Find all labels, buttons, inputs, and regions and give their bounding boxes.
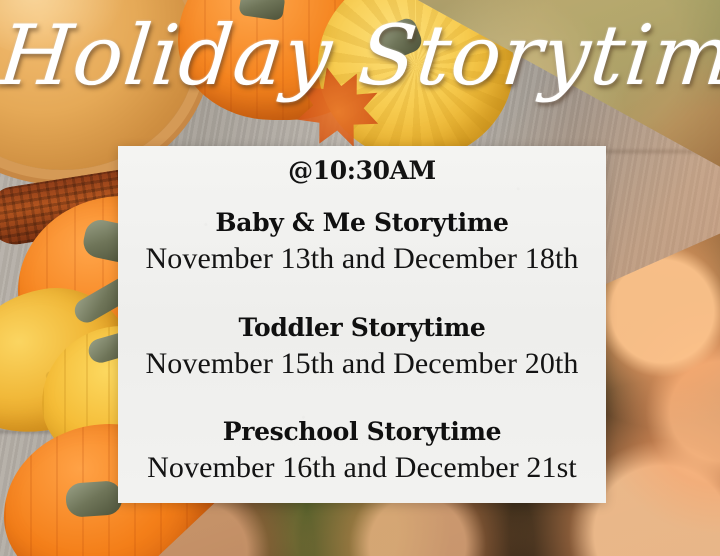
session-dates: November 13th and December 18th: [132, 240, 592, 278]
session-baby-and-me: Baby & Me Storytime November 13th and De…: [132, 208, 592, 278]
pumpkin-stem: [65, 480, 123, 518]
session-name: Baby & Me Storytime: [132, 208, 592, 238]
holiday-storytime-poster: Holiday Storytime @10:30AM Baby & Me Sto…: [0, 0, 720, 556]
storytime-time: @10:30AM: [288, 156, 436, 185]
session-dates: November 16th and December 21st: [132, 449, 592, 487]
session-preschool: Preschool Storytime November 16th and De…: [132, 417, 592, 487]
session-name: Preschool Storytime: [132, 417, 592, 447]
schedule-card: @10:30AM Baby & Me Storytime November 13…: [118, 146, 606, 503]
session-dates: November 15th and December 20th: [132, 345, 592, 383]
poster-title: Holiday Storytime: [0, 12, 720, 99]
session-name: Toddler Storytime: [132, 313, 592, 343]
session-toddler: Toddler Storytime November 15th and Dece…: [132, 313, 592, 383]
